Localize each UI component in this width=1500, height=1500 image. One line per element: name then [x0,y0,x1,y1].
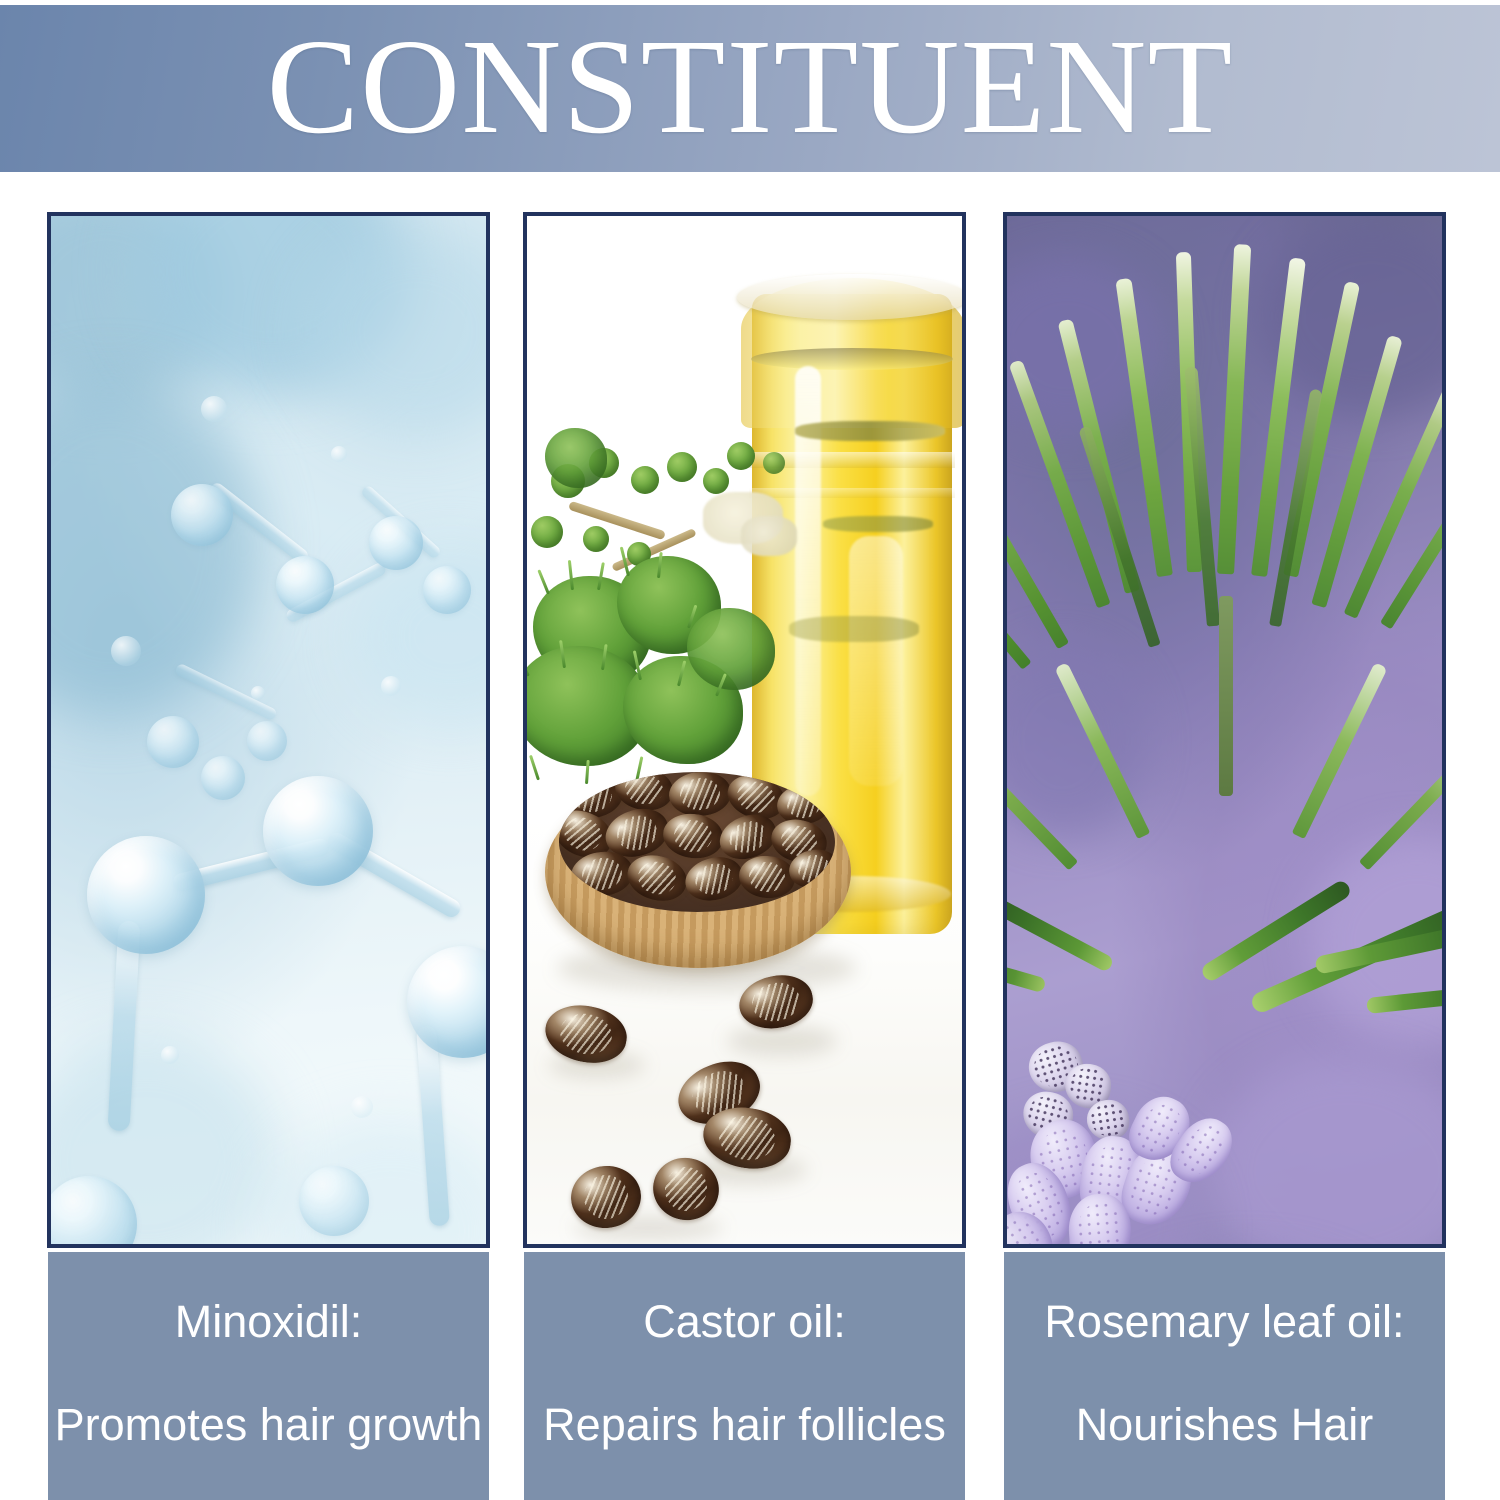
image-frame-castor-oil [523,212,966,1248]
castor-oil-photo [527,216,962,1244]
image-frame-minoxidil [47,212,490,1248]
constituent-card-castor-oil: Castor oil: Repairs hair follicles [523,212,966,1500]
infographic-page: CONSTITUENT [0,0,1500,1500]
constituent-card-minoxidil: Minoxidil: Promotes hair growth [47,212,490,1500]
constituent-panels: Minoxidil: Promotes hair growth [0,212,1500,1500]
constituent-description: Promotes hair growth [55,1400,483,1450]
rosemary-plant-photo [1007,216,1442,1244]
constituent-description: Nourishes Hair [1076,1400,1374,1450]
caption-minoxidil: Minoxidil: Promotes hair growth [48,1252,489,1500]
header-banner: CONSTITUENT [0,5,1500,172]
image-frame-rosemary [1003,212,1446,1248]
caption-castor-oil: Castor oil: Repairs hair follicles [524,1252,965,1500]
constituent-name: Rosemary leaf oil: [1044,1297,1404,1347]
caption-rosemary-leaf-oil: Rosemary leaf oil: Nourishes Hair [1004,1252,1445,1500]
molecule-structure-photo [51,216,486,1244]
page-title: CONSTITUENT [267,19,1234,155]
constituent-name: Minoxidil: [175,1297,363,1347]
constituent-card-rosemary-leaf-oil: Rosemary leaf oil: Nourishes Hair [1003,212,1446,1500]
constituent-description: Repairs hair follicles [543,1400,946,1450]
constituent-name: Castor oil: [643,1297,846,1347]
